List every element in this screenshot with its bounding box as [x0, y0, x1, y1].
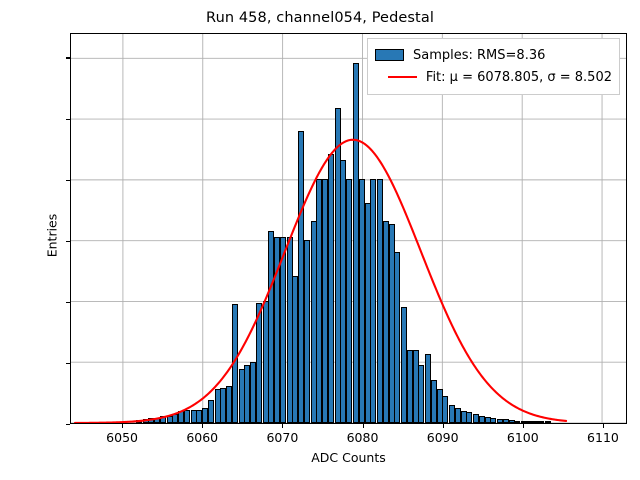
x-tick-mark: [523, 424, 524, 428]
y-tick-mark: [66, 424, 70, 425]
x-tick-mark: [202, 424, 203, 428]
x-tick-label: 6110: [568, 430, 638, 445]
legend-label-fit: Fit: μ = 6078.805, σ = 8.502: [426, 70, 612, 85]
x-tick-mark: [282, 424, 283, 428]
legend-label-samples: Samples: RMS=8.36: [413, 48, 545, 63]
x-tick-mark: [363, 424, 364, 428]
figure-canvas: Run 458, channel054, Pedestal 0100200300…: [0, 0, 640, 480]
x-tick-mark: [443, 424, 444, 428]
x-tick-label: 6090: [408, 430, 478, 445]
y-axis-label: Entries: [45, 176, 60, 296]
chart-title: Run 458, channel054, Pedestal: [0, 10, 640, 26]
y-tick-mark: [66, 180, 70, 181]
x-tick-mark: [603, 424, 604, 428]
x-tick-label: 6060: [167, 430, 237, 445]
y-tick-mark: [66, 119, 70, 120]
y-tick-mark: [66, 363, 70, 364]
y-tick-mark: [66, 302, 70, 303]
y-tick-mark: [66, 241, 70, 242]
chart-legend: Samples: RMS=8.36 Fit: μ = 6078.805, σ =…: [367, 38, 620, 95]
x-tick-mark: [122, 424, 123, 428]
x-tick-label: 6070: [247, 430, 317, 445]
legend-item-samples: Samples: RMS=8.36: [375, 44, 612, 66]
legend-item-fit: Fit: μ = 6078.805, σ = 8.502: [375, 66, 612, 88]
x-tick-label: 6050: [87, 430, 157, 445]
x-tick-label: 6100: [488, 430, 558, 445]
legend-patch-swatch-icon: [375, 49, 404, 61]
y-tick-mark: [66, 57, 70, 58]
x-axis-label: ADC Counts: [70, 450, 627, 465]
x-tick-label: 6080: [328, 430, 398, 445]
legend-line-swatch-icon: [388, 76, 417, 78]
